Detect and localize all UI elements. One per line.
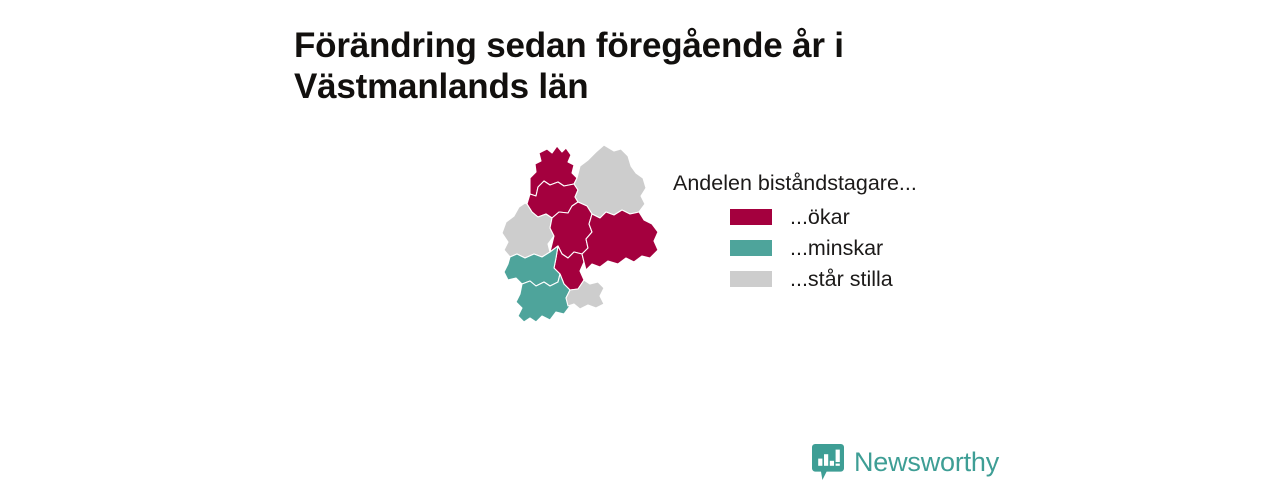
choropleth-map: [492, 140, 672, 340]
legend-color-swatch-star-stilla: [730, 271, 772, 287]
legend-label-okar: ...ökar: [790, 204, 850, 230]
map-svg: [492, 140, 672, 340]
legend-item-okar[interactable]: ...ökar: [673, 201, 1003, 232]
legend: Andelen biståndstagare... ...ökar ...min…: [673, 170, 1003, 294]
newsworthy-bar-chart-bubble-icon: [812, 444, 844, 480]
legend-label-star-stilla: ...står stilla: [790, 266, 893, 292]
legend-item-star-stilla[interactable]: ...står stilla: [673, 263, 1003, 294]
legend-title: Andelen biståndstagare...: [673, 170, 1003, 197]
legend-item-minskar[interactable]: ...minskar: [673, 232, 1003, 263]
legend-color-swatch-okar: [730, 209, 772, 225]
newsworthy-logo-text: Newsworthy: [854, 447, 999, 477]
newsworthy-logo[interactable]: Newsworthy: [812, 444, 999, 480]
legend-label-minskar: ...minskar: [790, 235, 883, 261]
page-title: Förändring sedan föregående år i Västman…: [294, 25, 914, 107]
legend-color-swatch-minskar: [730, 240, 772, 256]
map-area-vasteras[interactable]: [582, 210, 658, 270]
